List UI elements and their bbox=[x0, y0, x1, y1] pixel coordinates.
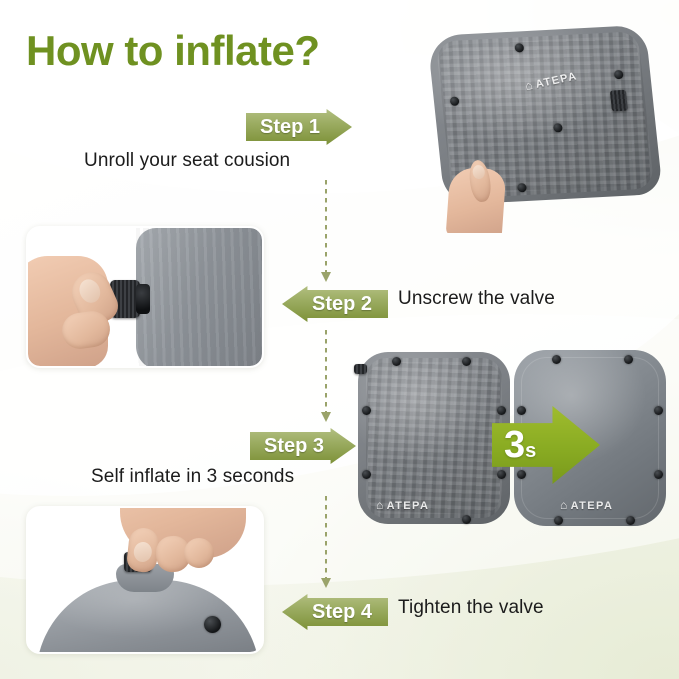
brand-wordmark-step3-left: ⌂ATEPA bbox=[376, 498, 429, 512]
step-1-caption: Unroll your seat cousion bbox=[84, 150, 290, 172]
step-3-badge-label: Step 3 bbox=[264, 435, 324, 458]
step-3-badge[interactable]: Step 3 bbox=[250, 428, 356, 464]
brand-name: ATEPA bbox=[387, 500, 430, 512]
step-2-caption: Unscrew the valve bbox=[398, 288, 555, 310]
cushion-grommet bbox=[462, 515, 471, 524]
cushion-grommet bbox=[497, 406, 506, 415]
cushion-grommet bbox=[552, 355, 561, 364]
step-2-photo bbox=[28, 228, 262, 366]
cushion-grommet bbox=[517, 470, 526, 479]
valve-knob-step3-left bbox=[354, 364, 367, 374]
page-title: How to inflate? bbox=[26, 27, 319, 75]
cushion-grommet bbox=[626, 516, 635, 525]
cushion-grommet bbox=[554, 516, 563, 525]
cushion-grommet bbox=[462, 357, 471, 366]
cushion-grommet bbox=[654, 470, 663, 479]
cushion-grommet bbox=[204, 616, 221, 633]
connector-step1-step2 bbox=[325, 180, 327, 274]
brand-name: ATEPA bbox=[571, 500, 614, 512]
fingernail-step2 bbox=[76, 276, 104, 306]
cushion-fabric-step2 bbox=[136, 228, 262, 366]
cushion-grommet bbox=[654, 406, 663, 415]
cushion-grommet bbox=[392, 357, 401, 366]
cushion-grommet bbox=[497, 470, 506, 479]
step-2-badge[interactable]: Step 2 bbox=[282, 286, 388, 322]
step-4-photo-card bbox=[26, 506, 264, 654]
brand-wordmark-step3-right: ⌂ATEPA bbox=[560, 498, 613, 512]
connector-step3-step4 bbox=[325, 496, 327, 580]
valve-knob bbox=[610, 90, 628, 112]
step-4-photo bbox=[28, 508, 262, 652]
step-2-badge-label: Step 2 bbox=[312, 293, 372, 316]
connector-step2-step3 bbox=[325, 330, 327, 414]
step-1-photo: ⌂ATEPA bbox=[404, 8, 676, 233]
thumbnail-step4 bbox=[133, 541, 153, 563]
cushion-grommet bbox=[517, 406, 526, 415]
brand-mark-icon: ⌂ bbox=[376, 498, 385, 512]
step-1-badge[interactable]: Step 1 bbox=[246, 109, 352, 145]
brand-mark-icon: ⌂ bbox=[560, 498, 569, 512]
cushion-deflated-step3: ⌂ATEPA bbox=[358, 352, 510, 524]
step-4-caption: Tighten the valve bbox=[398, 597, 544, 619]
step-4-badge[interactable]: Step 4 bbox=[282, 594, 388, 630]
step-3-caption: Self inflate in 3 seconds bbox=[91, 466, 294, 488]
step-2-photo-card bbox=[26, 226, 264, 368]
infographic-canvas: How to inflate? ⌂ATEPA Step 1 Unroll bbox=[0, 0, 679, 679]
cushion-grommet bbox=[362, 406, 371, 415]
timer-unit: s bbox=[525, 441, 536, 461]
cushion-grommet bbox=[624, 355, 633, 364]
cushion-grommet bbox=[362, 470, 371, 479]
fabric-wrinkles bbox=[136, 228, 262, 366]
valve-base-step2 bbox=[136, 284, 150, 314]
step-4-badge-label: Step 4 bbox=[312, 601, 372, 624]
timer-value: 3 bbox=[504, 426, 525, 464]
thumbnail-step1 bbox=[472, 164, 486, 180]
step-1-badge-label: Step 1 bbox=[260, 116, 320, 139]
